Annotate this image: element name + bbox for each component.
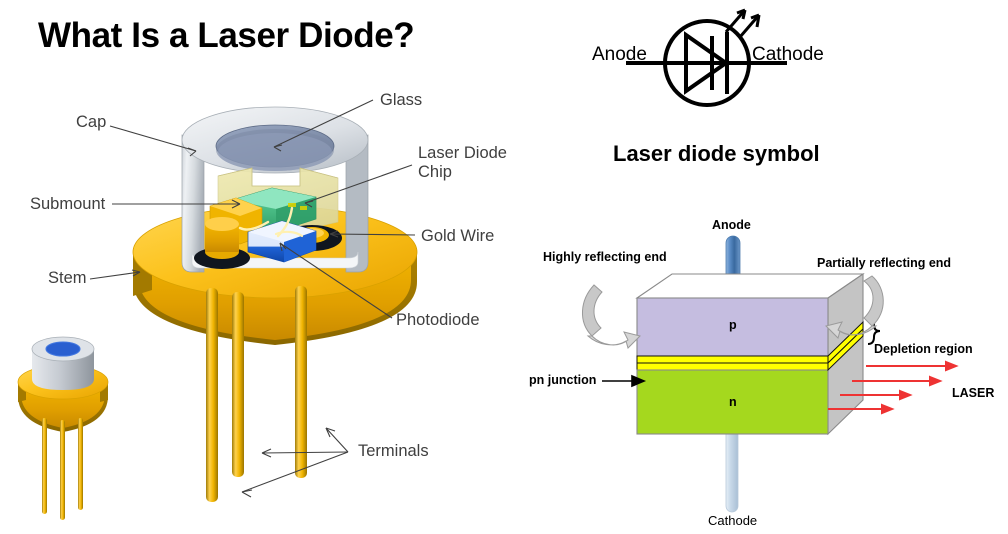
label-stem: Stem: [48, 268, 87, 289]
label-partially-reflecting-end: Partially reflecting end: [817, 256, 951, 270]
label-laser-output: LASER: [952, 386, 994, 400]
label-highly-reflecting-end: Highly reflecting end: [543, 250, 667, 264]
label-p-layer: p: [729, 318, 737, 332]
symbol-anode-label: Anode: [592, 44, 647, 66]
label-gold-wire: Gold Wire: [421, 226, 494, 247]
label-n-layer: n: [729, 395, 737, 409]
to-can-package-closed: [18, 337, 108, 520]
package-leader-lines: [90, 100, 415, 497]
structure-cathode-label: Cathode: [708, 513, 757, 528]
label-submount: Submount: [30, 194, 105, 215]
symbol-cathode-label: Cathode: [752, 44, 824, 66]
label-photodiode: Photodiode: [396, 310, 480, 331]
label-laser-diode-chip-line1: Laser Diode: [418, 143, 507, 164]
label-terminals: Terminals: [358, 441, 429, 462]
page-title: What Is a Laser Diode?: [38, 16, 414, 56]
label-laser-diode-chip-line2: Chip: [418, 162, 452, 183]
symbol-caption: Laser diode symbol: [613, 141, 820, 167]
label-depletion-region: Depletion region: [874, 342, 973, 356]
label-cap: Cap: [76, 112, 106, 133]
label-glass: Glass: [380, 90, 422, 111]
structure-anode-label: Anode: [712, 218, 751, 232]
label-pn-junction: pn junction: [529, 373, 596, 387]
